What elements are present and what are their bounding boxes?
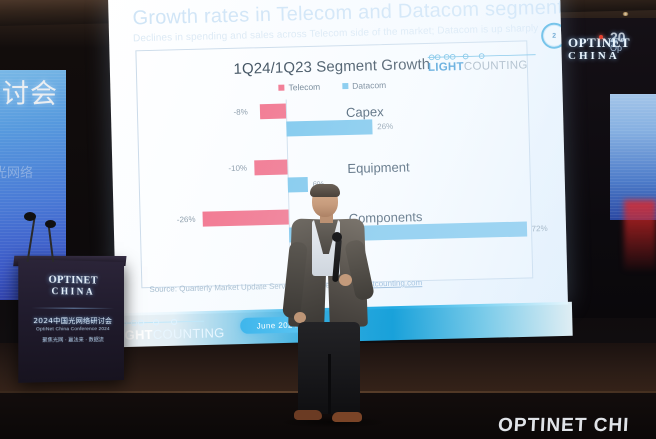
chart-value-label-telecom-equipment: -10% [228,164,247,173]
lightcounting-wordmark-footer: LIGHTCOUNTING [112,325,232,343]
floor-sign: OPTINET CHI [498,409,656,439]
chart-value-label-datacom-capex: 26% [377,122,393,131]
speaker-person [284,186,380,434]
lightcounting-logo-footer: LIGHTCOUNTING [112,317,233,343]
wall-sign-line1: OPTINET [568,36,656,50]
lightcounting-logo: LIGHTCOUNTING [428,51,538,74]
podium-english-title: OptiNet China Conference 2024 [27,326,118,331]
chart-value-label-telecom-capex: -8% [233,108,247,117]
chart-category-label-capex: Capex [346,104,384,120]
chart-group-capex: -8%26%Capex [138,97,530,107]
legend-item-telecom: Telecom [278,82,320,93]
floor-sign-text: OPTINET CHI [498,415,630,437]
speaker-shoe-left [294,410,322,420]
brand-counting: COUNTING [464,59,528,73]
chart-category-label-equipment: Equipment [347,159,410,176]
ceiling-light-icon [622,12,629,16]
podium-microphone-icon [24,212,36,221]
optinet-dot-icon [599,35,603,39]
brand-counting-footer: COUNTING [153,325,225,342]
podium-tagline: 聚焦光网 · 赢法来 · 数据流 [27,336,118,344]
brand-light: LIGHT [428,61,464,74]
chart-value-label-telecom-components: -26% [177,215,196,224]
podium-chinese-title: 2024中国光网络研讨会 [27,316,118,326]
podium: OPTINET CHINA 2024中国光网络研讨会 OptiNet China… [18,259,124,383]
legend-swatch-datacom [342,83,348,89]
chart-bar-datacom-capex[interactable] [286,119,372,136]
wall-sign-optinet-china: OPTINET CHINA [568,36,656,70]
chart-bar-telecom-components[interactable] [203,210,289,227]
right-red-light-glow [624,200,656,270]
left-screen-chinese-subtext: 光网络 [0,162,33,181]
chart-value-label-datacom-components: 72% [532,224,548,233]
legend-label-datacom: Datacom [352,80,386,91]
legend-label-telecom: Telecom [288,82,320,93]
conference-photo-scene: 讨会 光网络 20 Op OPTINET CHINA Growth rates … [0,0,656,439]
speaker-shoe-right [332,412,362,422]
speaker-leg-gap [328,354,331,414]
handheld-microphone-head-icon [332,232,342,242]
speaker-hair [310,184,340,197]
left-screen-chinese-text: 讨会 [2,72,58,111]
legend-swatch-telecom [278,85,284,91]
podium-logo: OPTINET CHINA [33,274,112,297]
podium-microphone-icon-2 [45,220,56,228]
wall-sign-line2: CHINA [568,50,656,63]
speaker-hand-right [339,274,352,286]
chart-bar-telecom-capex[interactable] [259,104,286,120]
podium-logo-line2: CHINA [33,286,112,297]
chart-group-equipment: -10%6%Equipment [139,153,531,163]
legend-item-datacom: Datacom [342,80,386,91]
podium-divider [31,307,114,309]
chart-bar-telecom-equipment[interactable] [254,160,287,176]
